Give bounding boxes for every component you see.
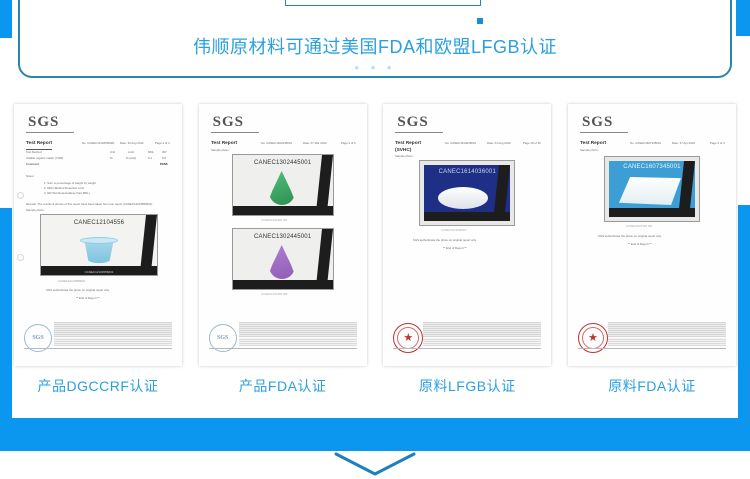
sgs-logo: SGS xyxy=(397,114,428,131)
certificate-caption: 产品DGCCRF认证 xyxy=(14,376,182,396)
table-result-label: Comment xyxy=(26,162,39,166)
end-of-report: ** End of Report ** xyxy=(76,296,100,300)
report-title: Test Report xyxy=(26,140,52,146)
sample-photo: CANEC1614036001 xyxy=(419,160,515,226)
photo-caption: CANEC1614036001 xyxy=(441,228,467,232)
header-subtitle: 伟顺原材料可通过美国FDA和欧盟LFGB认证 xyxy=(0,33,750,59)
footer-text-block xyxy=(423,322,541,337)
header-dots: • • • xyxy=(0,60,750,75)
droplet-shape xyxy=(269,171,295,205)
droplet-shape xyxy=(269,245,295,279)
table-cell: Volatile organic matter (VOM) xyxy=(26,156,63,160)
report-page: Page 4 of 4 xyxy=(155,141,170,145)
sample-photo-label: Sample photo : xyxy=(580,148,599,152)
table-cell: % xyxy=(110,156,113,160)
photo-caption: CANEC1302445 001 xyxy=(261,218,288,222)
note-item: 1. Sum is percentage of weight by weight xyxy=(44,181,96,185)
report-date: Date: 01 Aug 2016 xyxy=(487,141,511,145)
report-number: No. CANEC1302445001 xyxy=(261,141,292,145)
sample-photo: CANEC1302445001 xyxy=(232,228,334,290)
oval-product-shape xyxy=(438,187,488,209)
certificate-caption: 原料LFGB认证 xyxy=(383,376,551,396)
authenticate-note: SGS authenticate the photo on original r… xyxy=(413,238,476,242)
footer-divider xyxy=(209,348,357,349)
footer-text-block xyxy=(239,322,357,337)
footer-text-block xyxy=(239,338,357,346)
certificate-footer: SGS xyxy=(209,322,357,352)
footer-divider xyxy=(24,348,172,349)
report-number: No. CANEC1614036001 xyxy=(445,141,476,145)
report-title: Test Report xyxy=(395,140,421,146)
report-number: No. CANEC12104556001 xyxy=(82,141,115,145)
remark-text: Remark: The results & photos of this rep… xyxy=(26,202,152,206)
certificate-sheet: SGS Test Report No. CANEC12104556001 Dat… xyxy=(14,104,182,366)
footer-text-block xyxy=(54,338,172,346)
certificate-caption: 原料FDA认证 xyxy=(568,376,736,396)
sgs-logo: SGS xyxy=(28,114,59,131)
report-page: Page 16 of 16 xyxy=(523,141,541,145)
header-corner-marker xyxy=(477,18,483,24)
photo-caption: CANEC12104556001 xyxy=(41,270,157,274)
certification-section: 检测报告 伟顺原材料可通过美国FDA和欧盟LFGB认证 • • • SGS Te… xyxy=(0,0,750,479)
sgs-underline xyxy=(580,132,628,133)
report-date: Date: 20 Aug 2012 xyxy=(120,141,144,145)
footer-text-block xyxy=(54,322,172,337)
photo-code: CANEC12104556 xyxy=(41,220,157,226)
hole-punch-icon xyxy=(17,254,24,261)
report-title: Test Report xyxy=(580,140,606,146)
ruler-horizontal xyxy=(424,212,510,221)
certificate-footer xyxy=(393,322,541,352)
end-of-report: ** End of Report ** xyxy=(443,246,467,250)
photo-caption: CANEC1302445 002 xyxy=(261,292,288,296)
sample-photo: CANEC1607345001 xyxy=(604,156,700,222)
table-header-cell: 007 xyxy=(162,150,167,154)
table-cell: 0.1 xyxy=(148,156,152,160)
table-cell: % (w/w) xyxy=(126,156,136,160)
footer-text-block xyxy=(608,322,726,337)
photo-inner-blue: CANEC1607345001 xyxy=(609,161,695,217)
sgs-underline xyxy=(211,132,259,133)
photo-code: CANEC1302445001 xyxy=(233,160,333,166)
chevron-down-icon xyxy=(332,452,418,478)
report-date: Date: 07 Mar 2013 xyxy=(303,141,327,145)
certificate-card[interactable]: SGS Test Report No. CANEC1607345001 Date… xyxy=(568,104,736,404)
sgs-logo: SGS xyxy=(582,114,613,131)
header-title-box: 检测报告 xyxy=(285,0,481,6)
section-header: 检测报告 伟顺原材料可通过美国FDA和欧盟LFGB认证 • • • xyxy=(0,0,750,88)
table-header-cell: Limit xyxy=(128,150,134,154)
report-page: Page 4 of 5 xyxy=(341,141,356,145)
stamp-inner-ring xyxy=(582,327,604,349)
report-title: Test Report xyxy=(211,140,237,146)
scroll-down-indicator[interactable] xyxy=(0,452,750,479)
sample-photo: CANEC12104556 CANEC12104556001 xyxy=(40,214,158,276)
authenticate-note: SGS authenticate the photo on original r… xyxy=(46,288,109,292)
certificate-sheet: SGS Test Report No. CANEC1607345001 Date… xyxy=(568,104,736,366)
certificate-sheet: SGS Test Report (SVHC) No. CANEC16140360… xyxy=(383,104,551,366)
sgs-logo: SGS xyxy=(213,114,244,131)
report-number: No. CANEC1607345001 xyxy=(630,141,661,145)
ruler-horizontal xyxy=(609,208,695,217)
sheet-product-shape xyxy=(619,177,681,205)
table-header-cell: Unit xyxy=(110,150,115,154)
sample-photo-label: Sample photo : xyxy=(211,148,230,152)
photo-inner-navy: CANEC1614036001 xyxy=(424,165,510,221)
certificate-card[interactable]: SGS Test Report (SVHC) No. CANEC16140360… xyxy=(383,104,551,404)
report-date: Date: 27 Apr 2016 xyxy=(672,141,695,145)
photo-code: CANEC1302445001 xyxy=(233,234,333,240)
sample-photo-label: Sample photo : xyxy=(395,154,414,158)
certificate-caption: 产品FDA认证 xyxy=(199,376,367,396)
photo-caption: CANEC1607345 001 xyxy=(626,224,653,228)
ruler-horizontal xyxy=(233,280,333,289)
authenticate-note: SGS authenticate the photo on original r… xyxy=(598,234,661,238)
table-result-value: PASS xyxy=(160,162,168,166)
table-cell: 6.6 xyxy=(162,156,166,160)
footer-text-block xyxy=(608,338,726,346)
certificate-sheet: SGS Test Report No. CANEC1302445001 Date… xyxy=(199,104,367,366)
footer-divider xyxy=(393,348,541,349)
note-item: 2. MDL=Method Detection Limit xyxy=(44,186,84,190)
report-subtitle: (SVHC) xyxy=(395,147,411,153)
certificate-card[interactable]: SGS Test Report No. CANEC12104556001 Dat… xyxy=(14,104,182,404)
report-page: Page 4 of 4 xyxy=(710,141,725,145)
notes-heading: Notes : xyxy=(26,174,35,178)
stamp-inner-ring xyxy=(397,327,419,349)
sgs-underline xyxy=(395,132,443,133)
table-header-cell: MDL xyxy=(148,150,154,154)
accent-bar-bottom xyxy=(0,418,750,451)
sample-photo: CANEC1302445001 xyxy=(232,154,334,216)
certificate-gallery: SGS Test Report No. CANEC12104556001 Dat… xyxy=(0,104,750,404)
note-item: 3. ND=Not Detected(less than MDL) xyxy=(44,191,90,195)
sample-photo-label: Sample photo : xyxy=(26,208,45,212)
sgs-underline xyxy=(26,132,74,133)
footer-divider xyxy=(578,348,726,349)
bowl-rim xyxy=(80,237,118,244)
certificate-card[interactable]: SGS Test Report No. CANEC1302445001 Date… xyxy=(199,104,367,404)
table-header-cell: Test Method xyxy=(26,150,42,154)
footer-text-block xyxy=(423,338,541,346)
photo-caption-outer: CANEC12104556001 xyxy=(58,279,85,283)
ruler-horizontal xyxy=(233,206,333,215)
certificate-footer xyxy=(578,322,726,352)
certificate-footer: SGS xyxy=(24,322,172,352)
end-of-report: ** End of Report ** xyxy=(628,242,652,246)
hole-punch-icon xyxy=(17,192,24,199)
